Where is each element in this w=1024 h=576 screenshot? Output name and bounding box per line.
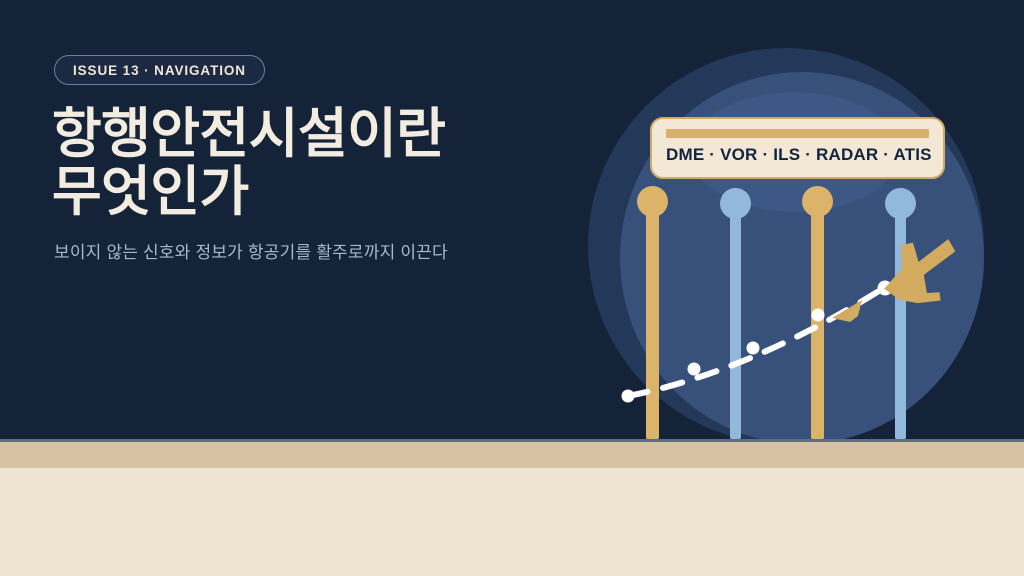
antenna-mast-2-head (720, 188, 751, 219)
page-title-line-1: 항행안전시설이란 (52, 105, 572, 163)
waypoint-dot-2 (688, 363, 701, 376)
ground-band-tan (0, 442, 1024, 468)
card-accent-bar (666, 129, 929, 138)
waypoint-dot-3 (747, 342, 760, 355)
waypoint-dot-4 (812, 309, 825, 322)
direction-arrow-icon (832, 300, 862, 322)
waypoint-dot-1 (622, 390, 635, 403)
page-title-line-2: 무엇인가 (52, 163, 572, 221)
ground-band-cream (0, 468, 1024, 576)
page-subtitle: 보이지 않는 신호와 정보가 항공기를 활주로까지 이끈다 (54, 238, 594, 263)
systems-info-card[interactable]: DME · VOR · ILS · RADAR · ATIS (650, 117, 945, 179)
antenna-mast-3-head (802, 186, 833, 217)
antenna-mast-1-head (637, 186, 668, 217)
slide-canvas: DME · VOR · ILS · RADAR · ATIS ISSUE 13 … (0, 0, 1024, 576)
issue-badge[interactable]: ISSUE 13 · NAVIGATION (54, 55, 265, 85)
issue-badge-label: ISSUE 13 · NAVIGATION (73, 63, 246, 78)
flight-path-graphic (600, 260, 940, 420)
systems-label: DME · VOR · ILS · RADAR · ATIS (666, 145, 929, 165)
antenna-mast-4-head (885, 188, 916, 219)
page-title: 항행안전시설이란 무엇인가 (52, 105, 572, 222)
flight-path-dashed-line (628, 286, 887, 396)
